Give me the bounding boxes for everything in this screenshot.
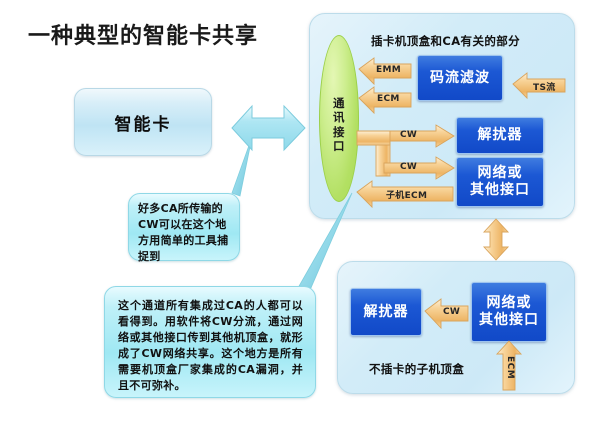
panel-card-stb-title: 插卡机顶盒和CA有关的部分 xyxy=(371,33,520,49)
box-descrambler-bottom-label: 解扰器 xyxy=(364,304,409,321)
page-title: 一种典型的智能卡共享 xyxy=(28,18,258,50)
box-stream-filter-label: 码流滤波 xyxy=(430,70,490,87)
box-network-bottom-line1: 网络或 xyxy=(487,295,532,311)
box-stream-filter[interactable]: 码流滤波 xyxy=(417,55,503,101)
box-descrambler-bottom[interactable]: 解扰器 xyxy=(350,288,422,336)
smartcard-box[interactable]: 智能卡 xyxy=(74,88,212,156)
panel-cardless-stb-title: 不插卡的子机顶盒 xyxy=(369,361,464,377)
callout-ca-hole-text: 这个通道所有集成过CA的人都可以看得到。用软件将CW分流，通过网络或其他接口传到… xyxy=(118,298,303,394)
box-network-bottom-line2: 其他接口 xyxy=(479,312,539,328)
box-network-bottom[interactable]: 网络或 其他接口 xyxy=(471,282,547,342)
box-network-bottom-label: 网络或 其他接口 xyxy=(479,295,539,329)
callout-ca-hole[interactable]: 这个通道所有集成过CA的人都可以看得到。用软件将CW分流，通过网络或其他接口传到… xyxy=(104,286,316,398)
smartcard-stb-double-arrow xyxy=(232,106,305,150)
box-network-top-label: 网络或 其他接口 xyxy=(470,165,530,199)
comm-interface-ellipse[interactable]: 通讯接口 xyxy=(319,35,359,202)
diagram-canvas: 一种典型的智能卡共享 智能卡 通讯接口 码流滤波 解扰器 网络或 其他接口 解扰… xyxy=(0,0,600,421)
box-descrambler-top-label: 解扰器 xyxy=(478,127,523,144)
box-network-top[interactable]: 网络或 其他接口 xyxy=(456,157,544,207)
comm-interface-label: 通讯接口 xyxy=(320,96,358,154)
smartcard-label: 智能卡 xyxy=(115,110,172,135)
panels-double-arrow xyxy=(484,219,508,260)
callout-cw-capture-text: 好多CA所传输的CW可以在这个地方用简单的工具捕捉到 xyxy=(138,201,231,265)
callout-cw-capture-pointer xyxy=(232,137,252,196)
callout-cw-capture[interactable]: 好多CA所传输的CW可以在这个地方用简单的工具捕捉到 xyxy=(128,193,240,261)
box-network-top-line1: 网络或 xyxy=(478,165,523,181)
box-descrambler-top[interactable]: 解扰器 xyxy=(456,117,544,154)
box-network-top-line2: 其他接口 xyxy=(470,182,530,198)
